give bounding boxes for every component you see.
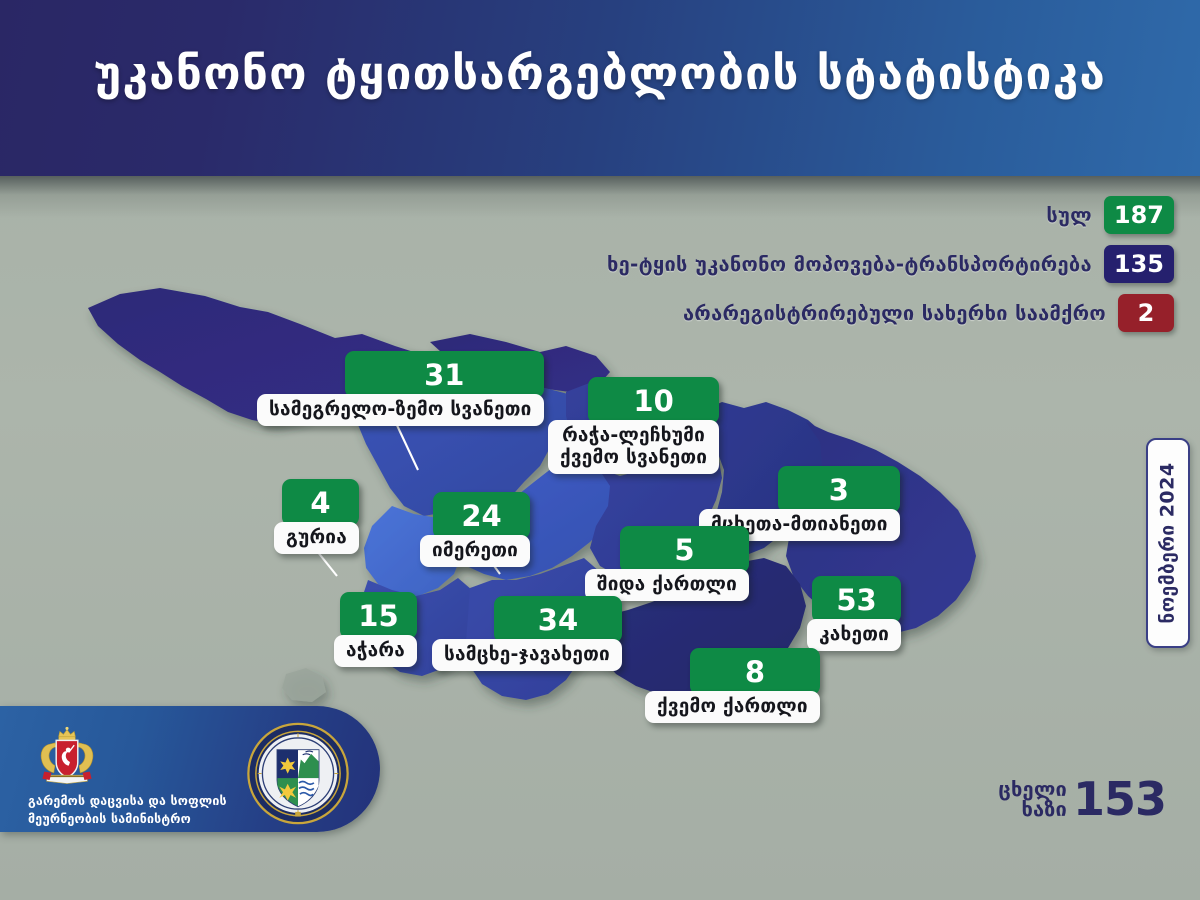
marker-value-samtskhe-javakheti: 34 [494, 596, 622, 643]
marker-samtskhe-javakheti[interactable]: 34 სამცხე-ჯავახეთი [494, 596, 622, 671]
date-tab[interactable]: ნოემბერი 2024 [1146, 438, 1190, 648]
marker-imereti[interactable]: 24 იმერეთი [433, 492, 530, 567]
header-banner: უკანონო ტყითსარგებლობის სტატისტიკა [0, 0, 1200, 176]
marker-value-samegrelo-zemo-svaneti: 31 [345, 351, 544, 398]
marker-mtskheta-mtianeti[interactable]: 3 მცხეთა-მთიანეთი [778, 466, 900, 541]
marker-label-racha-lechkhumi-kvemo-svaneti: რაჭა-ლეჩხუმი ქვემო სვანეთი [548, 420, 719, 474]
ministry-seal-icon [243, 722, 353, 825]
legend-row-unregistered-sawmill[interactable]: არარეგისტრირებული სახერხი საამქრო 2 [683, 294, 1174, 332]
marker-kakheti[interactable]: 53 კახეთი [812, 576, 901, 651]
ministry-name-line2: მეურნეობის სამინისტრო [28, 810, 260, 828]
marker-adjara[interactable]: 15 აჭარა [340, 592, 417, 667]
marker-label-adjara: აჭარა [334, 635, 417, 667]
marker-label-line2: ქვემო სვანეთი [560, 446, 707, 468]
georgia-coat-of-arms-icon [31, 726, 103, 786]
date-tab-label: ნოემბერი 2024 [1157, 462, 1179, 623]
marker-value-mtskheta-mtianeti: 3 [778, 466, 900, 513]
legend-row-total[interactable]: სულ 187 [1046, 196, 1174, 234]
marker-label-imereti: იმერეთი [420, 535, 530, 567]
infographic-root: უკანონო ტყითსარგებლობის სტატისტიკა [0, 0, 1200, 900]
marker-guria[interactable]: 4 გურია [282, 479, 359, 554]
legend-row-illegal-logging-transport[interactable]: ხე-ტყის უკანონო მოპოვება-ტრანსპორტირება … [607, 245, 1174, 283]
hotline[interactable]: ცხელი ხაზი 153 [998, 778, 1166, 820]
marker-label-line1: რაჭა-ლეჩხუმი [560, 424, 707, 446]
marker-label-kakheti: კახეთი [807, 619, 901, 651]
marker-label-samegrelo-zemo-svaneti: სამეგრელო-ზემო სვანეთი [257, 394, 544, 426]
marker-value-kvemo-kartli: 8 [690, 648, 820, 695]
legend-label-total: სულ [1046, 203, 1092, 227]
hotline-number: 153 [1073, 778, 1166, 820]
marker-value-guria: 4 [282, 479, 359, 526]
hotline-word2: ხაზი [998, 799, 1067, 819]
marker-value-adjara: 15 [340, 592, 417, 639]
marker-value-kakheti: 53 [812, 576, 901, 623]
marker-samegrelo-zemo-svaneti[interactable]: 31 სამეგრელო-ზემო სვანეთი [345, 351, 544, 426]
legend-badge-unregistered-sawmill: 2 [1118, 294, 1174, 332]
marker-value-racha-lechkhumi-kvemo-svaneti: 10 [588, 377, 719, 424]
marker-value-shida-kartli: 5 [620, 526, 749, 573]
legend-label-illegal-logging-transport: ხე-ტყის უკანონო მოპოვება-ტრანსპორტირება [607, 252, 1092, 276]
marker-racha-lechkhumi-kvemo-svaneti[interactable]: 10 რაჭა-ლეჩხუმი ქვემო სვანეთი [588, 377, 719, 474]
hotline-label: ცხელი ხაზი [998, 779, 1067, 820]
legend-label-unregistered-sawmill: არარეგისტრირებული სახერხი საამქრო [683, 301, 1106, 325]
page-title: უკანონო ტყითსარგებლობის სტატისტიკა [0, 48, 1200, 99]
legend: სულ 187 ხე-ტყის უკანონო მოპოვება-ტრანსპო… [607, 196, 1174, 332]
marker-value-imereti: 24 [433, 492, 530, 539]
marker-kvemo-kartli[interactable]: 8 ქვემო ქართლი [690, 648, 820, 723]
marker-label-samtskhe-javakheti: სამცხე-ჯავახეთი [432, 639, 622, 671]
marker-label-guria: გურია [274, 522, 359, 554]
hotline-word1: ცხელი [998, 779, 1067, 799]
marker-label-kvemo-kartli: ქვემო ქართლი [645, 691, 820, 723]
ministry-name: გარემოს დაცვისა და სოფლის მეურნეობის სამ… [28, 792, 260, 827]
legend-badge-total: 187 [1104, 196, 1174, 234]
legend-badge-illegal-logging-transport: 135 [1104, 245, 1174, 283]
ministry-name-line1: გარემოს დაცვისა და სოფლის [28, 792, 260, 810]
marker-shida-kartli[interactable]: 5 შიდა ქართლი [620, 526, 749, 601]
